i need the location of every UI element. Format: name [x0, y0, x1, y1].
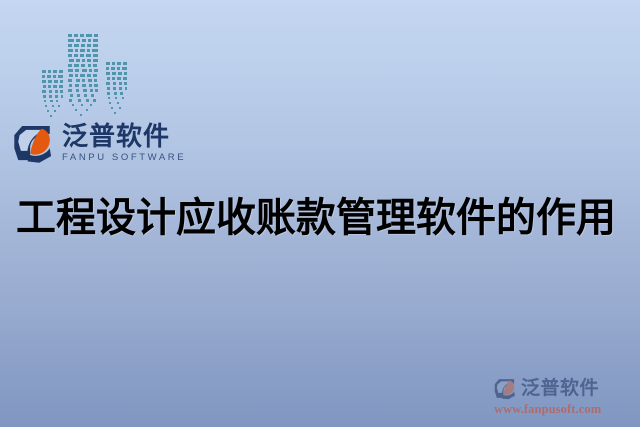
- page-title: 工程设计应收账款管理软件的作用: [16, 196, 630, 241]
- brand-name-en: FANPU SOFTWARE: [62, 153, 186, 163]
- watermark: 泛普软件 www.fanpusoft.com: [494, 377, 630, 416]
- watermark-name-cn: 泛普软件: [521, 379, 599, 398]
- watermark-logo-row: 泛普软件: [494, 377, 630, 401]
- watermark-url: www.fanpusoft.com: [494, 403, 630, 416]
- banner-image: 泛普软件 FANPU SOFTWARE 工程设计应收账款管理软件的作用 泛普软件…: [0, 0, 640, 427]
- pixel-city-skyline-icon: [38, 28, 134, 120]
- fanpu-logo-mark-icon: [494, 377, 517, 400]
- brand-wordmark: 泛普软件 FANPU SOFTWARE: [62, 124, 186, 163]
- brand-logo: 泛普软件 FANPU SOFTWARE: [13, 120, 186, 166]
- brand-name-cn: 泛普软件: [62, 124, 186, 150]
- fanpu-logo-mark-icon: [13, 122, 55, 164]
